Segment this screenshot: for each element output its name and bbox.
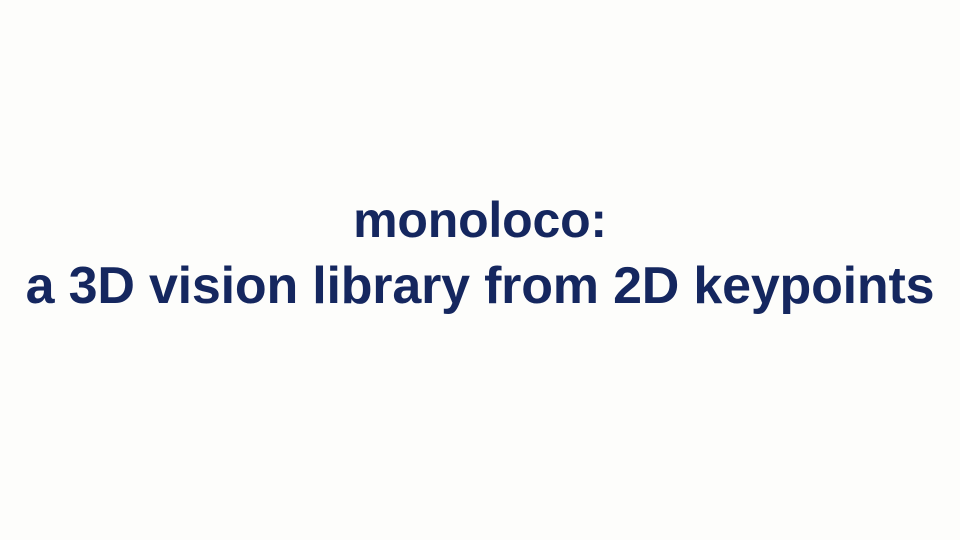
title-line-subtitle: a 3D vision library from 2D keypoints (0, 253, 960, 319)
title-slide: monoloco: a 3D vision library from 2D ke… (0, 0, 960, 540)
title-line-project-name: monoloco: (0, 187, 960, 253)
title-block: monoloco: a 3D vision library from 2D ke… (0, 187, 960, 319)
